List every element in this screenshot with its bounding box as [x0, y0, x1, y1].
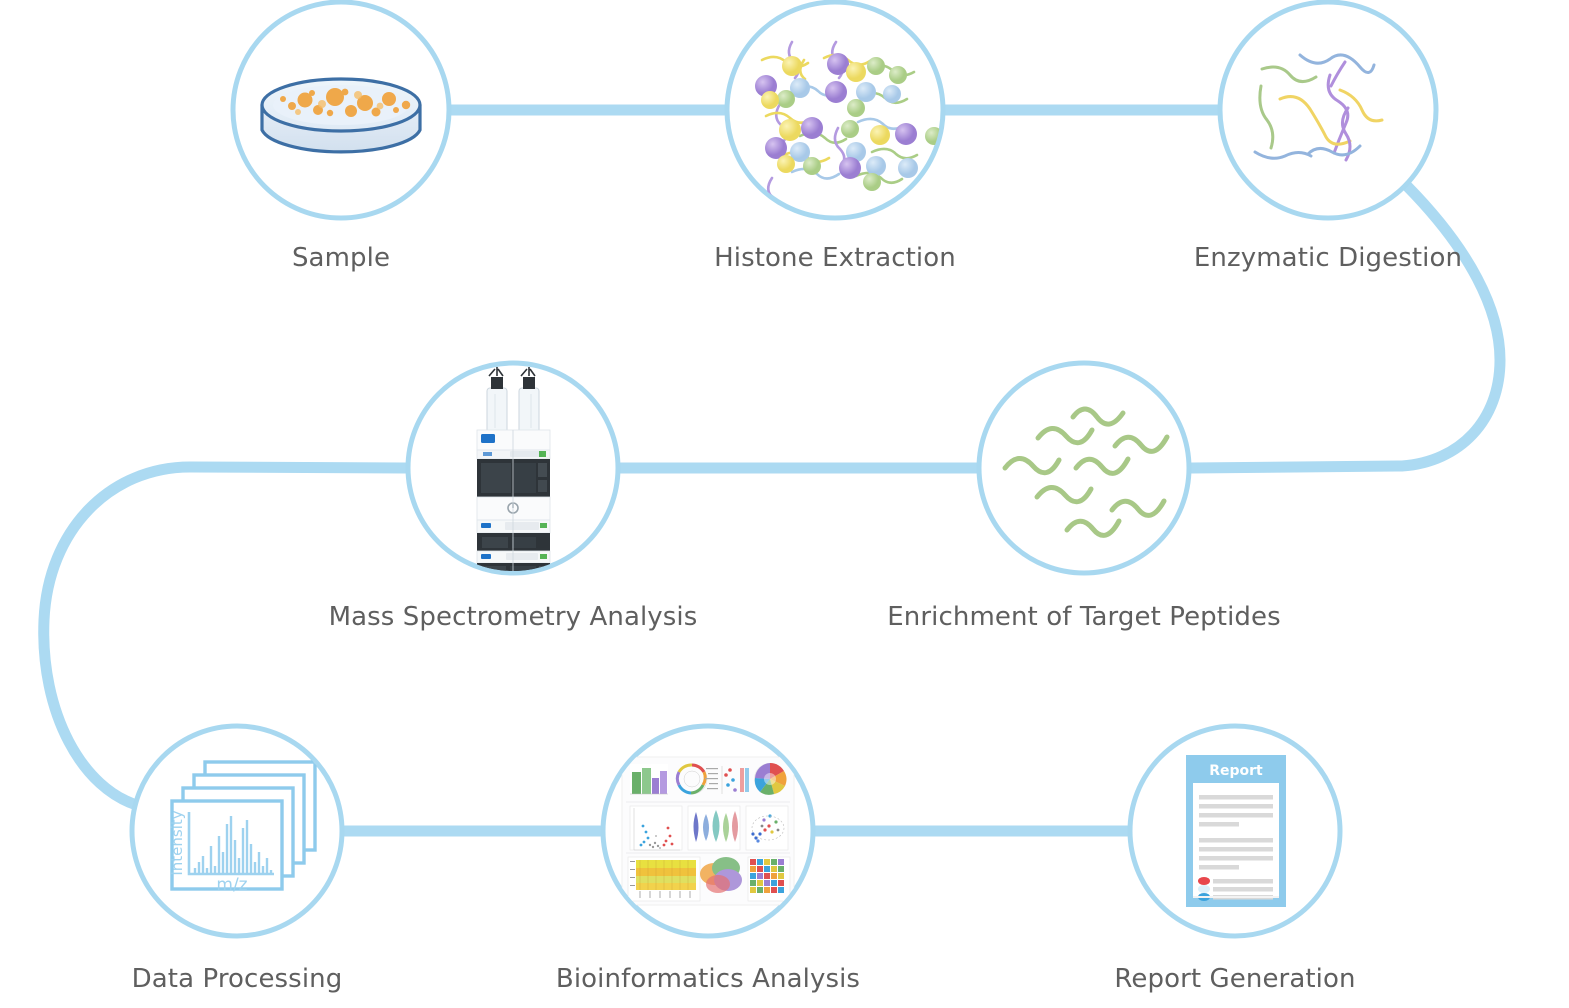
green-peptide-waves-icon: [1005, 409, 1167, 535]
plots-collage-icon: [622, 757, 794, 905]
svg-text:m/z: m/z: [216, 875, 247, 895]
workflow-diagram: Intensity m/z: [0, 0, 1569, 1008]
node-circle-report-generation[interactable]: [1130, 726, 1340, 936]
stacked-spectra-icon: Intensity m/z: [168, 762, 315, 895]
node-label-report-generation: Report Generation: [1035, 966, 1435, 992]
node-label-enzymatic-digestion: Enzymatic Digestion: [1128, 245, 1528, 271]
peptide-strands-icon: [1255, 55, 1382, 160]
node-circle-bioinformatics-analysis[interactable]: [603, 726, 813, 936]
histone-proteins-icon: [755, 42, 943, 214]
connector-digestion-to-enrichment: [1192, 186, 1500, 468]
node-circle-enzymatic-digestion[interactable]: [1220, 2, 1436, 218]
svg-text:Intensity: Intensity: [168, 810, 186, 875]
node-label-mass-spectrometry-analysis: Mass Spectrometry Analysis: [263, 604, 763, 630]
report-document-icon: Report: [1186, 755, 1286, 907]
node-label-sample: Sample: [141, 245, 541, 271]
node-circle-mass-spectrometry-analysis[interactable]: [408, 363, 618, 573]
petri-dish-icon: [262, 79, 420, 152]
node-circle-enrichment-of-target-peptides[interactable]: [979, 363, 1189, 573]
node-circle-histone-extraction[interactable]: [727, 2, 943, 218]
lc-ms-instrument-icon: [477, 367, 550, 595]
report-header-text: Report: [1209, 763, 1263, 779]
node-circle-data-processing[interactable]: [132, 726, 342, 936]
node-label-histone-extraction: Histone Extraction: [635, 245, 1035, 271]
node-label-bioinformatics-analysis: Bioinformatics Analysis: [508, 966, 908, 992]
node-label-data-processing: Data Processing: [37, 966, 437, 992]
node-layer: Intensity m/z: [0, 0, 1569, 1008]
node-label-enrichment-of-target-peptides: Enrichment of Target Peptides: [834, 604, 1334, 630]
connector-massspec-to-dataprocessing: [44, 467, 406, 806]
connector-layer: [0, 0, 1569, 1008]
node-circle-sample[interactable]: [233, 2, 449, 218]
